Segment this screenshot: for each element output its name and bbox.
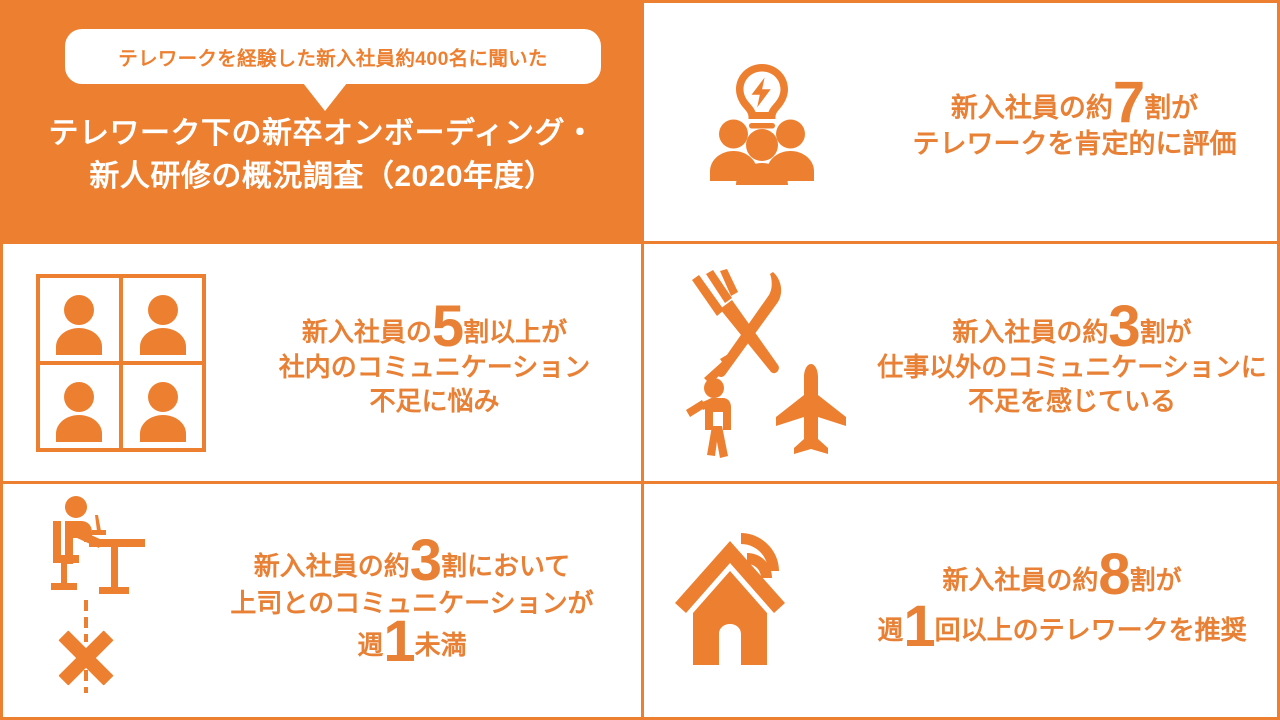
stat-line: 週1回以上のテレワークを推奨 [854,606,1270,650]
stat-line: テレワークを肯定的に評価 [879,126,1270,162]
stat-line: 新入社員の5割以上が [238,306,631,350]
stat-line: 新入社員の約3割において [193,540,631,585]
stat-cell-telework-recommendation: 新入社員の約8割が 週1回以上のテレワークを推奨 [641,481,1280,720]
stat-text-internal-communication-shortage: 新入社員の5割以上が 社内のコミュニケーション 不足に悩み [238,306,641,419]
page-title-line-2: 新人研修の概況調査（2020年度） [89,160,554,193]
stat-line: 仕事以外のコミュニケーションに [874,350,1270,385]
stat-line: 週1未満 [193,621,631,664]
home-wifi-icon [644,527,854,677]
infographic-grid: テレワークを経験した新入社員約400名に聞いた テレワーク下の新卒オンボーディン… [3,3,1277,717]
stat-cell-internal-communication-shortage: 新入社員の5割以上が 社内のコミュニケーション 不足に悩み [3,241,641,481]
stat-text-non-work-communication-shortage: 新入社員の約3割が 仕事以外のコミュニケーションに 不足を感じている [874,306,1280,419]
page-title: テレワーク下の新卒オンボーディング・ 新人研修の概況調査（2020年度） [3,113,641,198]
stat-number: 3 [410,528,441,593]
leisure-icon [644,268,874,458]
stat-line: 新入社員の約3割が [874,306,1270,350]
stat-cell-positive-evaluation: 新入社員の約7割が テレワークを肯定的に評価 [641,3,1280,241]
stat-cell-manager-communication-frequency: 新入社員の約3割において 上司とのコミュニケーションが 週1未満 [3,481,641,720]
speech-bubble-tail [303,83,347,111]
stat-number: 1 [383,609,414,674]
speech-bubble-body: テレワークを経験した新入社員約400名に聞いた [65,29,601,84]
stat-number: 1 [903,594,934,659]
broken-communication-icon [3,495,193,710]
speech-bubble-text: テレワークを経験した新入社員約400名に聞いた [118,42,547,71]
video-grid-people-icon [3,273,238,453]
stat-cell-non-work-communication-shortage: 新入社員の約3割が 仕事以外のコミュニケーションに 不足を感じている [641,241,1280,481]
stat-text-telework-recommendation: 新入社員の約8割が 週1回以上のテレワークを推奨 [854,554,1280,650]
header-cell: テレワークを経験した新入社員約400名に聞いた テレワーク下の新卒オンボーディン… [3,3,641,241]
stat-line: 不足に悩み [238,384,631,419]
stat-line: 社内のコミュニケーション [238,350,631,385]
stat-line: 新入社員の約7割が [879,82,1270,126]
stat-number: 8 [1098,542,1129,607]
speech-bubble: テレワークを経験した新入社員約400名に聞いた [65,29,601,84]
stat-line: 不足を感じている [874,384,1270,419]
people-lightbulb-icon [644,60,879,185]
stat-text-manager-communication-frequency: 新入社員の約3割において 上司とのコミュニケーションが 週1未満 [193,540,641,665]
stat-text-positive-evaluation: 新入社員の約7割が テレワークを肯定的に評価 [879,82,1280,162]
page-title-line-1: テレワーク下の新卒オンボーディング・ [49,117,596,150]
infographic-page: テレワークを経験した新入社員約400名に聞いた テレワーク下の新卒オンボーディン… [0,0,1280,720]
